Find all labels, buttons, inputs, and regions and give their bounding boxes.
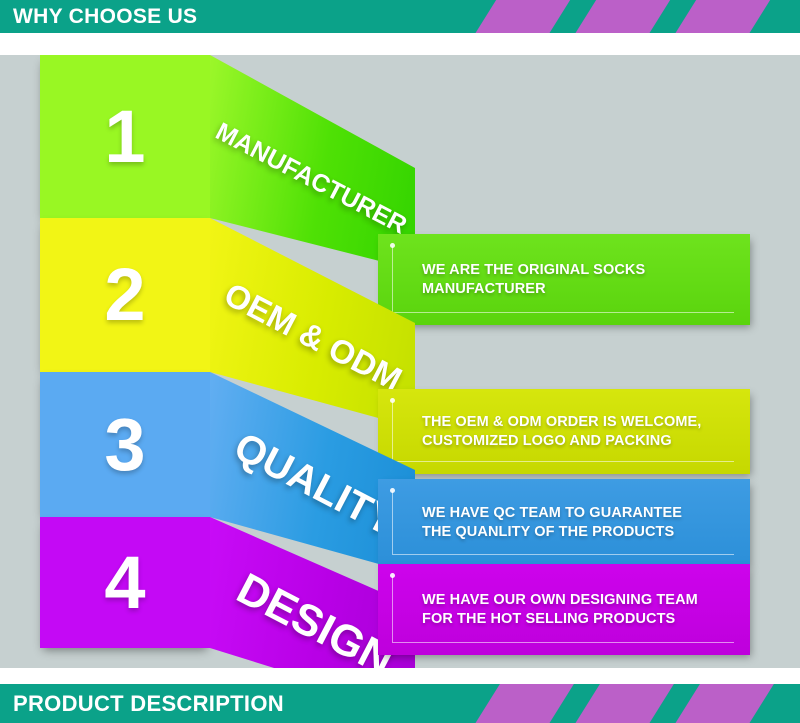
step-description-4: WE HAVE OUR OWN DESIGNING TEAM FOR THE H… bbox=[422, 590, 736, 628]
bottom-banner-stripes bbox=[460, 684, 800, 723]
step-description-line-3a: WE HAVE QC TEAM TO GUARANTEE bbox=[422, 505, 682, 521]
step-description-line-4b: FOR THE HOT SELLING PRODUCTS bbox=[422, 611, 675, 627]
step-description-2: THE OEM & ODM ORDER IS WELCOME, CUSTOMIZ… bbox=[422, 412, 736, 450]
step-panel-2[interactable]: THE OEM & ODM ORDER IS WELCOME, CUSTOMIZ… bbox=[378, 389, 750, 474]
step-number-2: 2 bbox=[40, 258, 210, 332]
step-description-line-4a: WE HAVE OUR OWN DESIGNING TEAM bbox=[422, 591, 698, 607]
step-number-4: 4 bbox=[40, 546, 210, 620]
step-description-line-3b: THE QUANLITY OF THE PRODUCTS bbox=[422, 524, 674, 540]
step-description-line-2a: THE OEM & ODM ORDER IS WELCOME, bbox=[422, 413, 701, 429]
step-description-line-1b: MANUFACTURER bbox=[422, 281, 546, 297]
bottom-banner: PRODUCT DESCRIPTION bbox=[0, 684, 800, 723]
step-description-1: WE ARE THE ORIGINAL SOCKS MANUFACTURER bbox=[422, 260, 736, 298]
step-panel-4[interactable]: WE HAVE OUR OWN DESIGNING TEAM FOR THE H… bbox=[378, 564, 750, 655]
bottom-banner-title: PRODUCT DESCRIPTION bbox=[13, 691, 284, 717]
top-banner-stripes bbox=[460, 0, 800, 33]
top-banner: WHY CHOOSE US bbox=[0, 0, 800, 33]
step-description-3: WE HAVE QC TEAM TO GUARANTEE THE QUANLIT… bbox=[422, 504, 736, 542]
step-description-line-2b: CUSTOMIZED LOGO AND PACKING bbox=[422, 433, 672, 449]
step-panel-3[interactable]: WE HAVE QC TEAM TO GUARANTEE THE QUANLIT… bbox=[378, 479, 750, 567]
step-number-3: 3 bbox=[40, 408, 210, 482]
step-number-block-4[interactable]: 4 bbox=[40, 517, 210, 648]
step-number-block-1[interactable]: 1 bbox=[40, 55, 210, 218]
step-panel-dot-3 bbox=[390, 488, 395, 493]
infographic-stage: 1 MANUFACTURER WE ARE THE ORIGINAL SOCKS… bbox=[0, 55, 800, 668]
top-banner-title: WHY CHOOSE US bbox=[13, 5, 197, 29]
step-number-block-3[interactable]: 3 bbox=[40, 372, 210, 517]
step-description-line-1a: WE ARE THE ORIGINAL SOCKS bbox=[422, 261, 645, 277]
step-number-1: 1 bbox=[40, 100, 210, 174]
step-number-block-2[interactable]: 2 bbox=[40, 218, 210, 372]
step-panel-1[interactable]: WE ARE THE ORIGINAL SOCKS MANUFACTURER bbox=[378, 234, 750, 325]
step-panel-dot-4 bbox=[390, 573, 395, 578]
